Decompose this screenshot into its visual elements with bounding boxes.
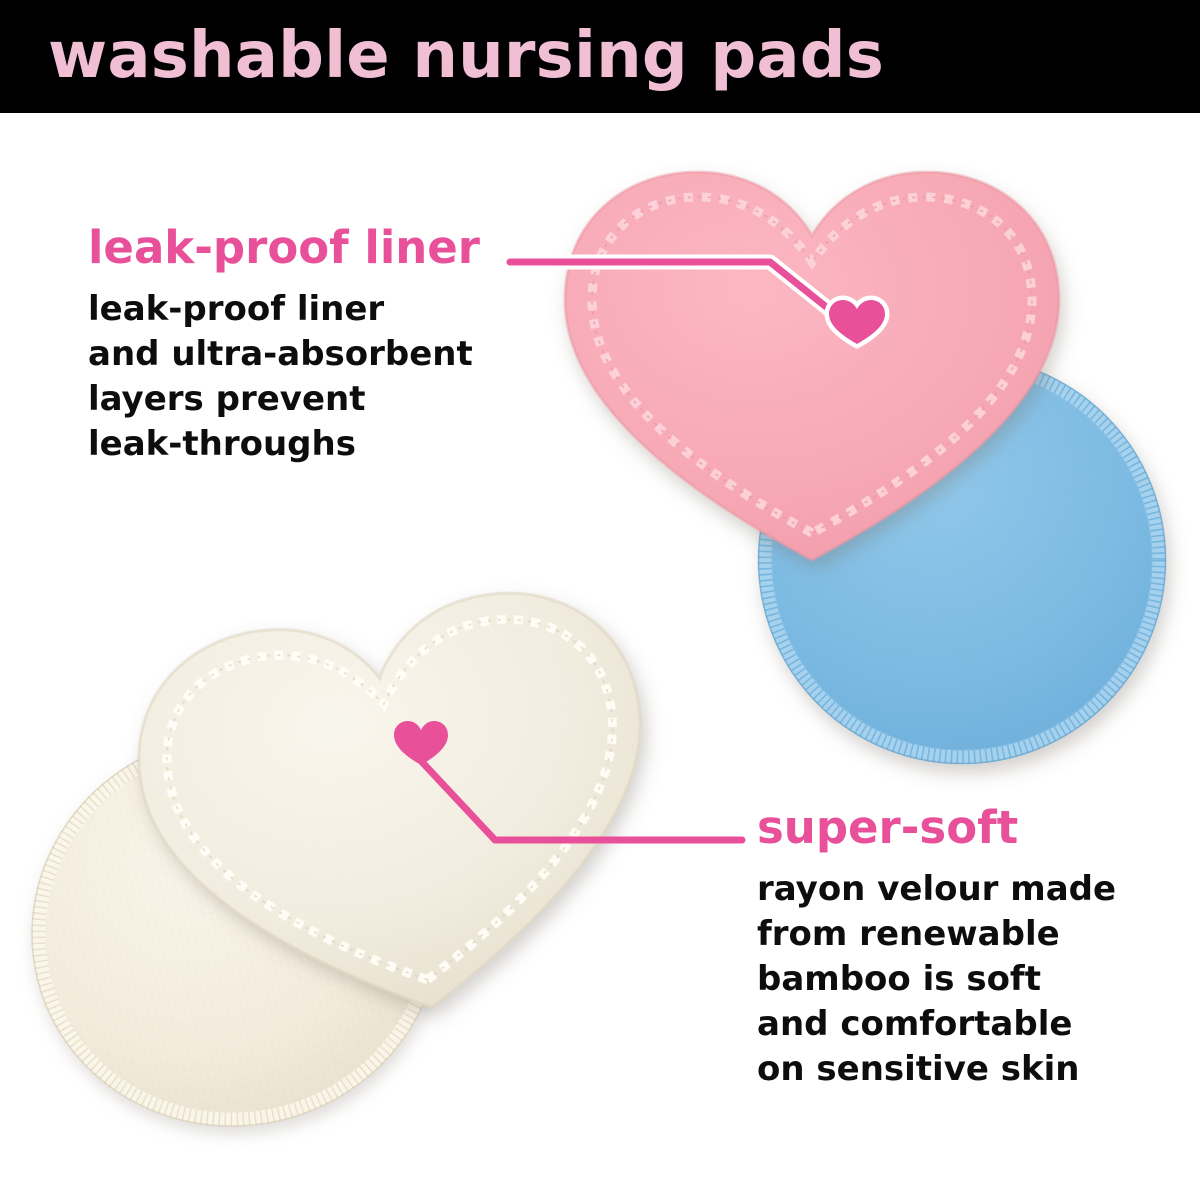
callout-title-leak-proof-liner: leak-proof liner xyxy=(88,222,480,274)
callout-body-leak-proof-liner: leak-proof liner and ultra-absorbent lay… xyxy=(88,287,480,467)
infographic-canvas: washable nursing pads leak-proof liner l… xyxy=(0,0,1200,1200)
callout-body-line: and ultra-absorbent xyxy=(88,332,480,377)
callout-body-line: leak-proof liner xyxy=(88,287,480,332)
callout-body-line: layers prevent xyxy=(88,377,480,422)
callout-body-line: on sensitive skin xyxy=(757,1047,1116,1092)
callout-title-super-soft: super-soft xyxy=(757,802,1116,854)
callout-body-line: bamboo is soft xyxy=(757,957,1116,1002)
callout-body-line: rayon velour made xyxy=(757,867,1116,912)
callout-body-super-soft: rayon velour made from renewable bamboo … xyxy=(757,867,1116,1092)
callout-leak-proof-liner: leak-proof liner leak-proof liner and ul… xyxy=(88,222,480,467)
callout-body-line: leak-throughs xyxy=(88,422,480,467)
callout-super-soft: super-soft rayon velour made from renewa… xyxy=(757,802,1116,1092)
page-title: washable nursing pads xyxy=(48,17,884,95)
callout-body-line: from renewable xyxy=(757,912,1116,957)
header-bar: washable nursing pads xyxy=(0,0,1200,113)
callout-body-line: and comfortable xyxy=(757,1002,1116,1047)
